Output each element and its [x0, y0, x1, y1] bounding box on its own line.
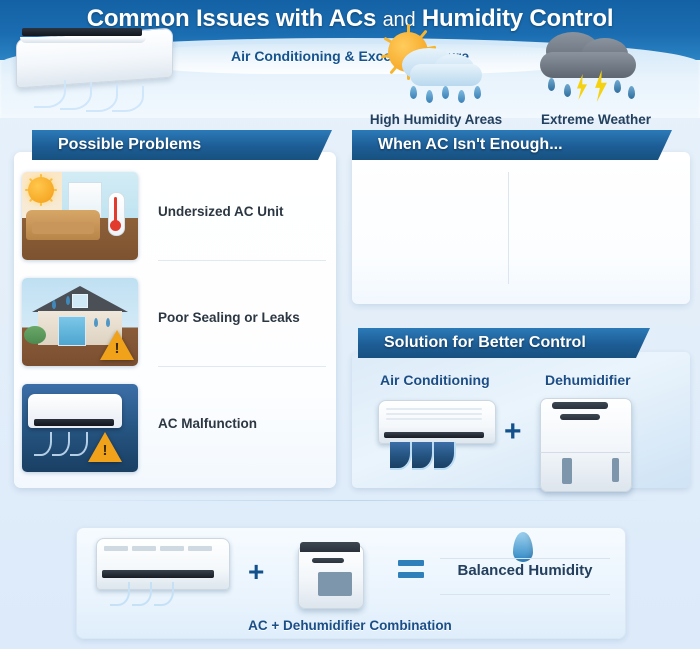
list-item-label: Poor Sealing or Leaks	[158, 310, 308, 325]
sunny-living-room-thermometer-image	[22, 172, 138, 260]
divider	[508, 172, 509, 284]
list-item[interactable]: Undersized AC Unit	[22, 172, 302, 264]
weather-item-extreme-weather[interactable]	[518, 18, 674, 110]
solution-label-air-conditioning: Air Conditioning	[380, 372, 490, 388]
divider	[158, 260, 326, 261]
when-ac-isnt-enough-banner-label: When AC Isn't Enough...	[352, 130, 672, 160]
sun-cloud-rain-icon	[358, 18, 514, 110]
list-item-label: AC Malfunction	[158, 416, 308, 431]
result-label: Balanced Humidity	[430, 562, 620, 579]
weather-label-extreme-weather: Extreme Weather	[518, 112, 674, 127]
equals-icon	[398, 560, 424, 584]
warning-icon	[100, 330, 134, 360]
warning-icon	[88, 432, 122, 462]
weather-label-high-humidity: High Humidity Areas	[358, 112, 514, 127]
ac-vent-shape	[22, 28, 142, 36]
weather-item-high-humidity[interactable]	[358, 18, 514, 110]
list-item[interactable]: AC Malfunction	[22, 384, 302, 476]
combination-caption: AC + Dehumidifier Combination	[76, 618, 624, 633]
solution-label-dehumidifier: Dehumidifier	[545, 372, 631, 388]
divider	[158, 366, 326, 367]
possible-problems-banner-label: Possible Problems	[32, 130, 332, 160]
possible-problems-banner: Possible Problems	[32, 130, 332, 160]
solution-banner-label: Solution for Better Control	[358, 328, 650, 358]
plus-icon: +	[504, 417, 522, 447]
list-item-label: Undersized AC Unit	[158, 204, 308, 219]
when-ac-isnt-enough-card	[352, 152, 690, 304]
divider	[440, 558, 610, 559]
house-water-leak-warning-image	[22, 278, 138, 366]
plus-icon: +	[248, 558, 264, 586]
divider	[440, 594, 610, 595]
divider	[40, 500, 660, 501]
ac-unit-warning-image	[22, 384, 138, 472]
solution-banner: Solution for Better Control	[358, 328, 650, 358]
infographic-page: Common Issues with ACs and Humidity Cont…	[0, 0, 700, 649]
ac-lip-shape	[20, 37, 146, 43]
list-item[interactable]: Poor Sealing or Leaks	[22, 278, 302, 370]
when-ac-isnt-enough-banner: When AC Isn't Enough...	[352, 130, 672, 160]
storm-cloud-lightning-icon	[518, 18, 674, 110]
